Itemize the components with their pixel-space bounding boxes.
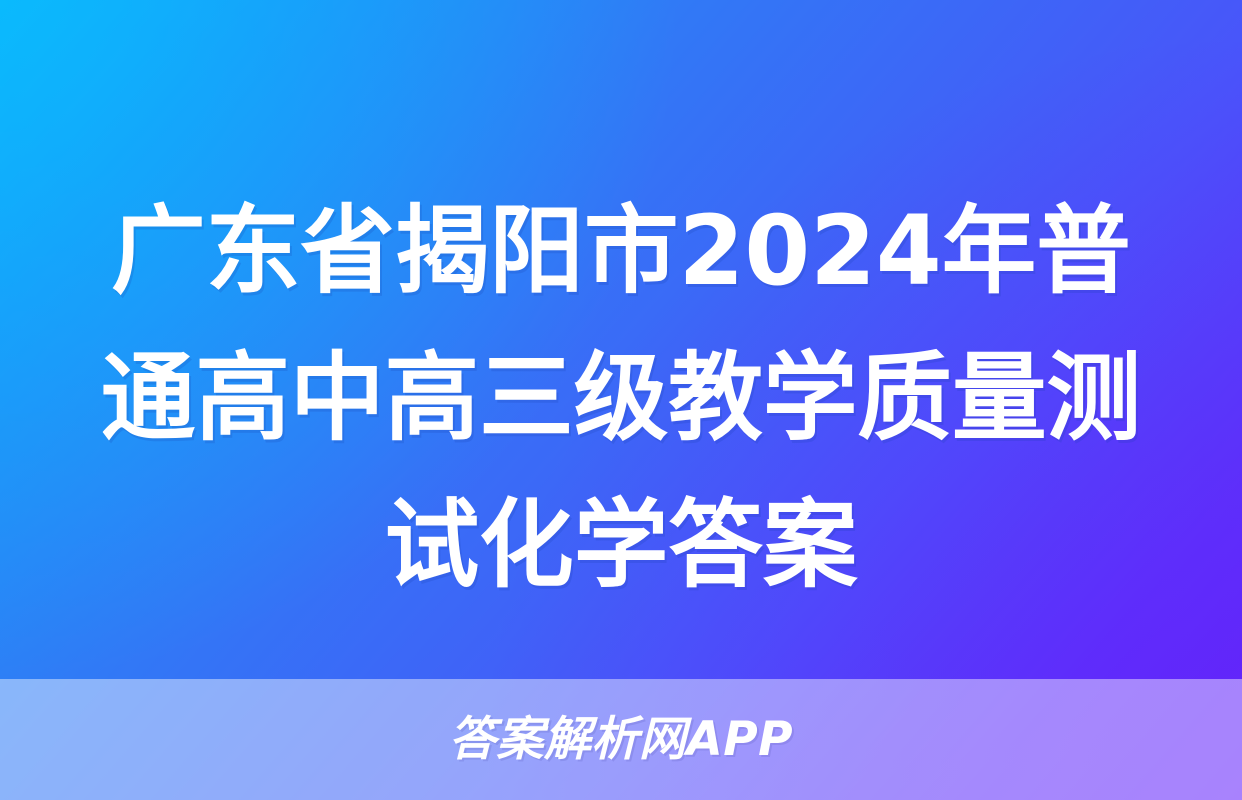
poster-canvas: 广东省揭阳市2024年普 通高中高三级教学质量测 试化学答案 答案解析网APP bbox=[0, 0, 1242, 800]
footer-watermark-band: 答案解析网APP bbox=[0, 679, 1242, 800]
app-brand-label: 答案解析网APP bbox=[449, 716, 793, 763]
title-line-2: 通高中高三级教学质量测 bbox=[9, 325, 1232, 472]
page-title: 广东省揭阳市2024年普 通高中高三级教学质量测 试化学答案 bbox=[0, 178, 1242, 619]
title-line-1: 广东省揭阳市2024年普 bbox=[9, 178, 1232, 325]
title-line-3: 试化学答案 bbox=[9, 472, 1232, 619]
